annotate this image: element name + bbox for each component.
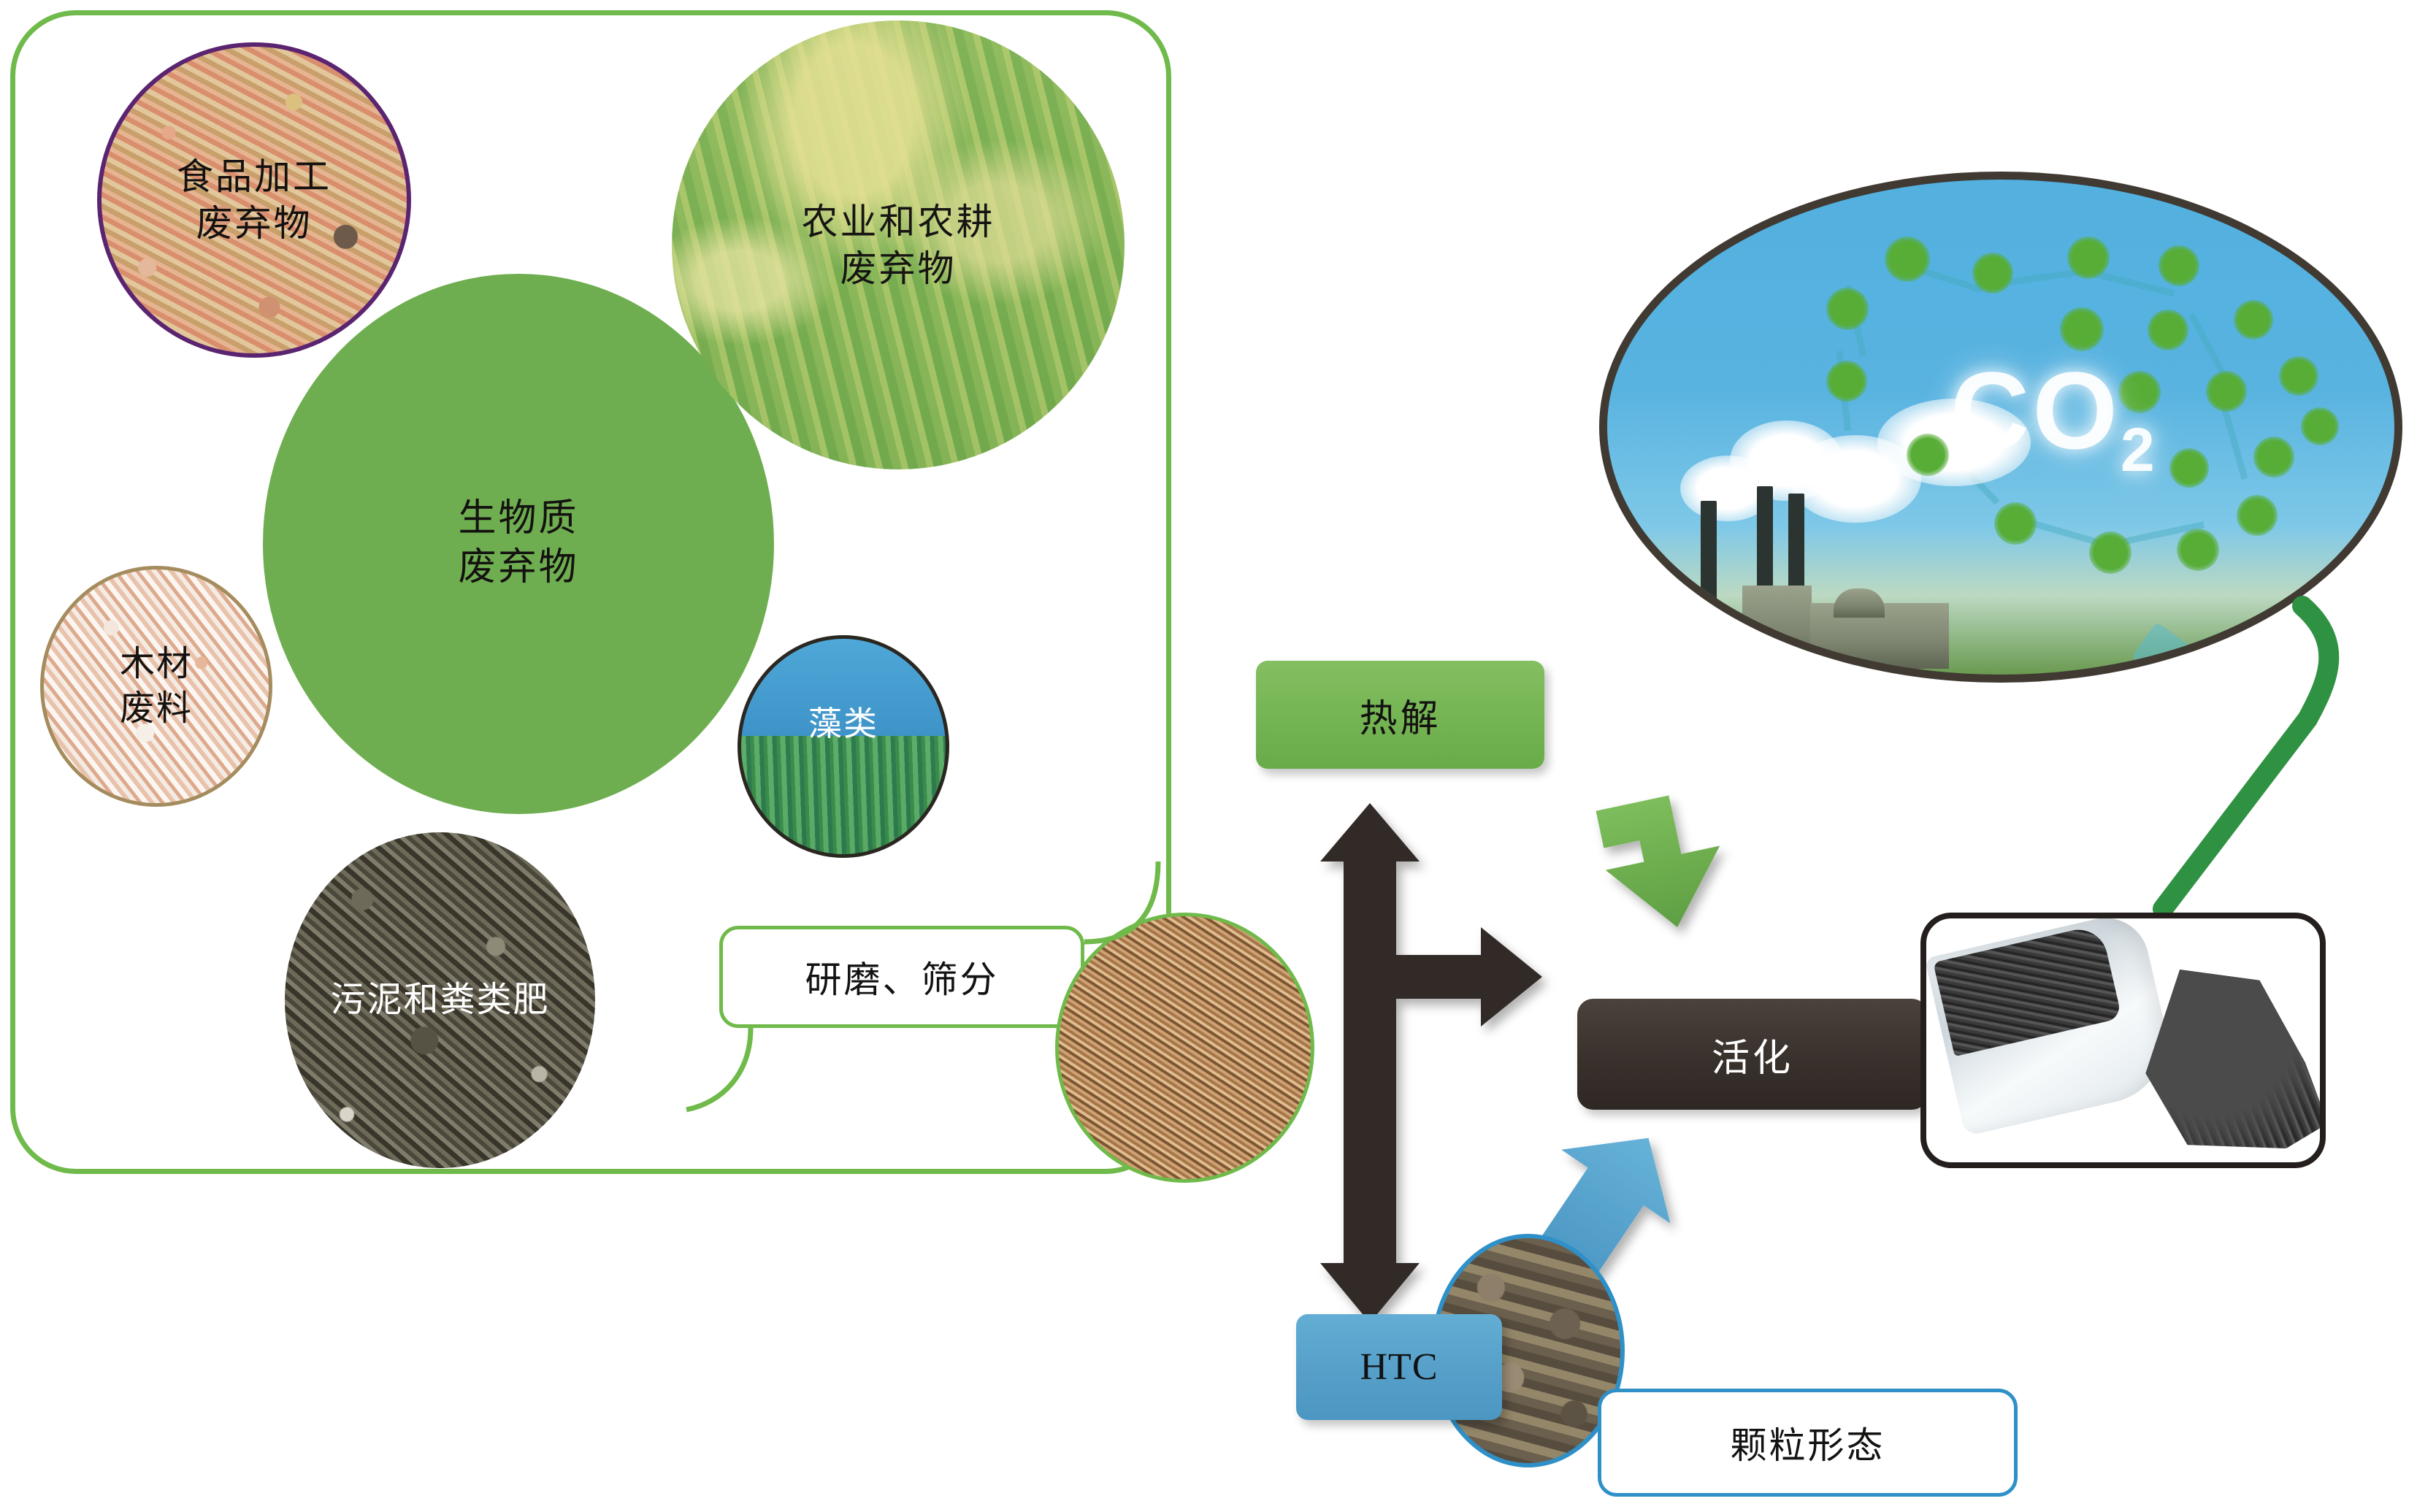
sludge-manure-label: 污泥和粪类肥 [330, 978, 549, 1022]
biomass-waste-label-line1: 生物质 [458, 495, 578, 544]
co2-molecule-node [2159, 245, 2199, 286]
agri-waste-line1: 农业和农耕 [802, 199, 995, 245]
biomass-waste-label: 生物质 废弃物 [458, 495, 578, 592]
particle-morphology-box[interactable]: 颗粒形态 [1598, 1389, 2018, 1497]
co2-label-text: CO [1950, 349, 2121, 472]
co2-molecule-node [1826, 361, 1867, 402]
co2-molecule-node [2279, 356, 2318, 396]
agricultural-waste-label: 农业和农耕 废弃物 [802, 199, 995, 292]
agricultural-waste-circle[interactable]: 农业和农耕 废弃物 [672, 20, 1125, 469]
pyrolysis-box[interactable]: 热解 [1256, 661, 1544, 769]
biomass-waste-circle[interactable]: 生物质 废弃物 [263, 274, 774, 814]
beaker-icon [1925, 913, 2180, 1137]
co2-molecule-node [1972, 253, 2013, 293]
milled-feedstock-circle [1055, 913, 1314, 1183]
sludge-manure-circle[interactable]: 污泥和粪类肥 [285, 832, 595, 1168]
co2-molecule-node [2067, 237, 2110, 279]
co2-molecule-node [2206, 371, 2247, 412]
activated-carbon-product-frame [1920, 913, 2326, 1168]
wood-waste-label: 木材 废料 [120, 642, 193, 732]
carbon-in-beaker [1933, 924, 2122, 1056]
co2-molecule-node [1885, 237, 1930, 282]
co2-molecule-node [1994, 502, 2037, 545]
activation-label: 活化 [1712, 1027, 1793, 1082]
algae-circle[interactable]: 藻类 [738, 635, 949, 858]
activation-box[interactable]: 活化 [1577, 999, 1928, 1110]
power-plant-building [1742, 586, 1812, 666]
carbon-granule-pile [2138, 970, 2326, 1148]
diagram-canvas: 生物质 废弃物 食品加工 废弃物 农业和农耕 废弃物 木材 废料 藻类 污泥和粪… [0, 0, 2417, 1512]
co2-emission-ellipse: CO2 [1599, 172, 2402, 683]
food-waste-line1: 食品加工 [177, 153, 332, 200]
co2-molecule-node [2089, 531, 2131, 574]
co2-molecule-node [1826, 288, 1869, 330]
co2-molecule-node [2253, 437, 2294, 477]
algae-label: 藻类 [808, 703, 878, 746]
co2-molecule-node [2301, 407, 2339, 445]
wood-waste-circle[interactable]: 木材 废料 [40, 566, 272, 807]
particle-morphology-label: 颗粒形态 [1731, 1416, 1885, 1469]
pyrolysis-label: 热解 [1359, 688, 1441, 742]
smokestack [1701, 501, 1717, 647]
co2-molecule-node [2177, 529, 2219, 571]
food-processing-waste-label: 食品加工 废弃物 [177, 153, 332, 247]
biomass-waste-label-line2: 废弃物 [458, 544, 578, 593]
co2-molecule-node [2148, 310, 2188, 350]
agri-waste-line2: 废弃物 [802, 245, 995, 292]
co2-molecule-node [2237, 495, 2278, 536]
grinding-screening-box[interactable]: 研磨、筛分 [719, 926, 1084, 1028]
co2-molecule-node [2060, 307, 2104, 351]
co2-molecule-node [2234, 300, 2273, 339]
co2-subscript: 2 [2121, 415, 2158, 484]
wood-waste-line2: 废料 [120, 686, 193, 731]
wood-waste-line1: 木材 [120, 642, 193, 686]
co2-molecule-node [2169, 448, 2209, 488]
food-waste-line2: 废弃物 [177, 200, 332, 247]
cooling-tower [1834, 588, 1885, 618]
magnifier-handle [2131, 622, 2292, 683]
co2-molecule-node [1907, 434, 1949, 476]
co2-label: CO2 [1950, 348, 2158, 486]
grinding-screening-label: 研磨、筛分 [805, 951, 999, 1003]
htc-label: HTC [1360, 1346, 1439, 1389]
food-processing-waste-circle[interactable]: 食品加工 废弃物 [97, 42, 411, 358]
pyrolysis-to-activation-arrow [1593, 787, 1735, 939]
htc-box[interactable]: HTC [1296, 1314, 1502, 1420]
